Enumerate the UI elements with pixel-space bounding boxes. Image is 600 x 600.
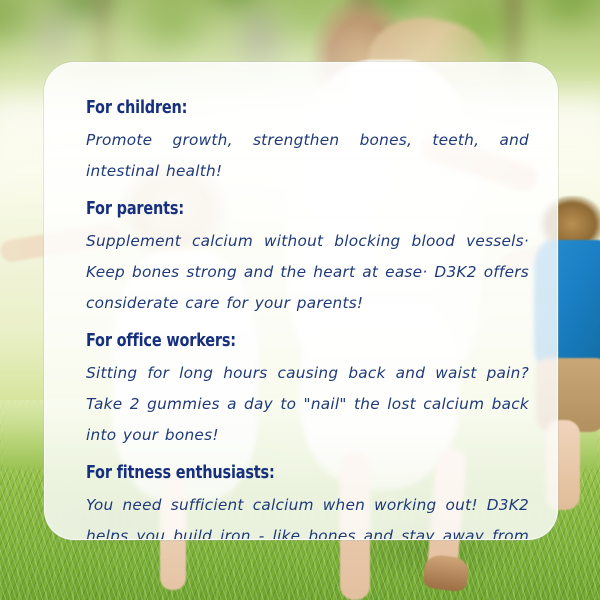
benefit-body-children: Promote growth, strengthen bones, teeth,… — [86, 125, 529, 187]
benefit-section-children: For children: Promote growth, strengthen… — [86, 93, 527, 187]
benefit-heading-fitness-enthusiasts: For fitness enthusiasts: — [86, 458, 492, 488]
benefit-heading-children: For children: — [86, 93, 492, 123]
benefit-body-office-workers: Sitting for long hours causing back and … — [86, 358, 529, 451]
promo-graphic: For children: Promote growth, strengthen… — [0, 0, 600, 600]
benefits-card: For children: Promote growth, strengthen… — [44, 62, 558, 540]
benefit-section-parents: For parents: Supplement calcium without … — [86, 194, 527, 319]
benefit-heading-office-workers: For office workers: — [86, 326, 492, 356]
benefit-body-parents: Supplement calcium without blocking bloo… — [86, 226, 529, 319]
benefits-card-content: For children: Promote growth, strengthen… — [45, 63, 557, 540]
benefit-section-fitness-enthusiasts: For fitness enthusiasts: You need suffic… — [86, 458, 527, 540]
benefit-body-fitness-enthusiasts: You need sufficient calcium when working… — [86, 490, 529, 540]
benefit-heading-parents: For parents: — [86, 194, 492, 224]
benefit-section-office-workers: For office workers: Sitting for long hou… — [86, 326, 527, 451]
